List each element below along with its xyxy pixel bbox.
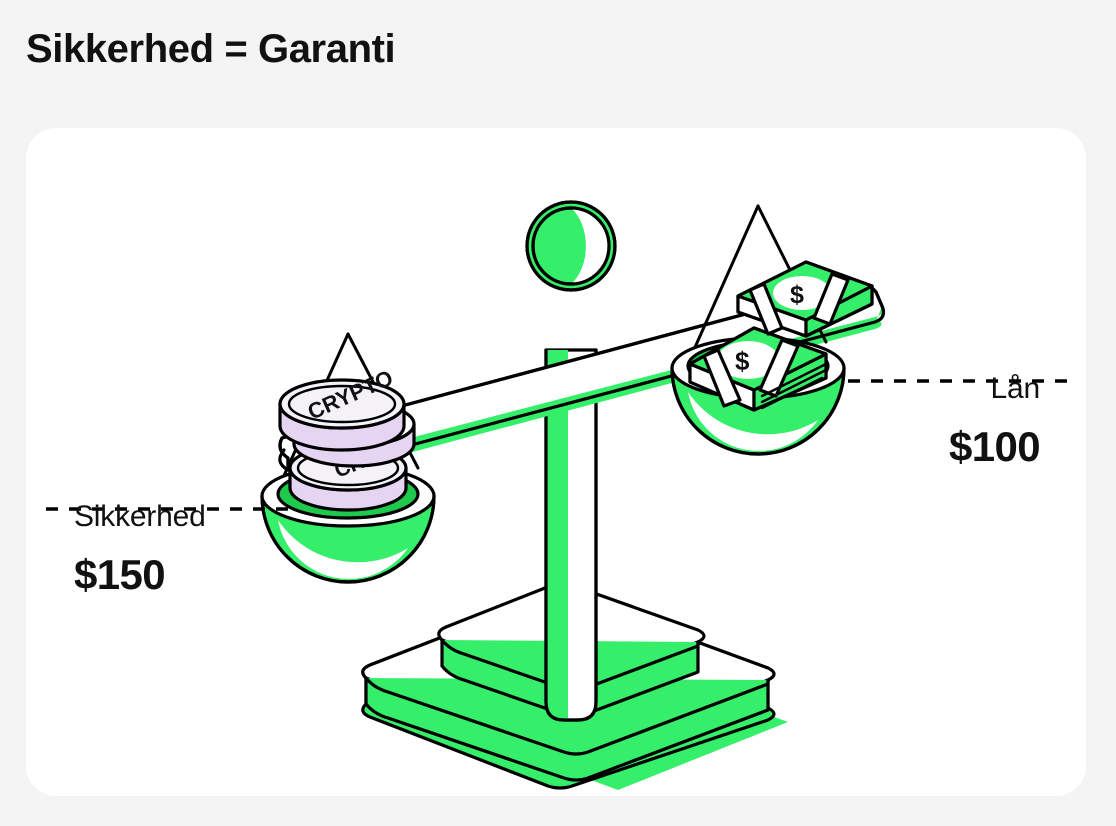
left-caption-label: Sikkerhed [74,502,206,532]
left-caption-value: $150 [74,554,206,596]
fulcrum-joint [527,202,615,290]
page-title: Sikkerhed = Garanti [26,27,395,72]
balance-scale-illustration: CR CRYPTO [26,128,1086,796]
right-caption: Lån $100 [949,374,1040,468]
right-caption-label: Lån [949,374,1040,404]
page-root: Sikkerhed = Garanti [0,0,1116,826]
crypto-coin-stack: CR CRYPTO [280,365,414,510]
left-caption: Sikkerhed $150 [74,502,206,596]
dollar-symbol-lower: $ [735,346,750,376]
illustration-card: CR CRYPTO [26,128,1086,796]
dollar-symbol-upper: $ [790,281,804,309]
right-caption-value: $100 [949,426,1040,468]
coin-top: CRYPTO [280,365,404,450]
